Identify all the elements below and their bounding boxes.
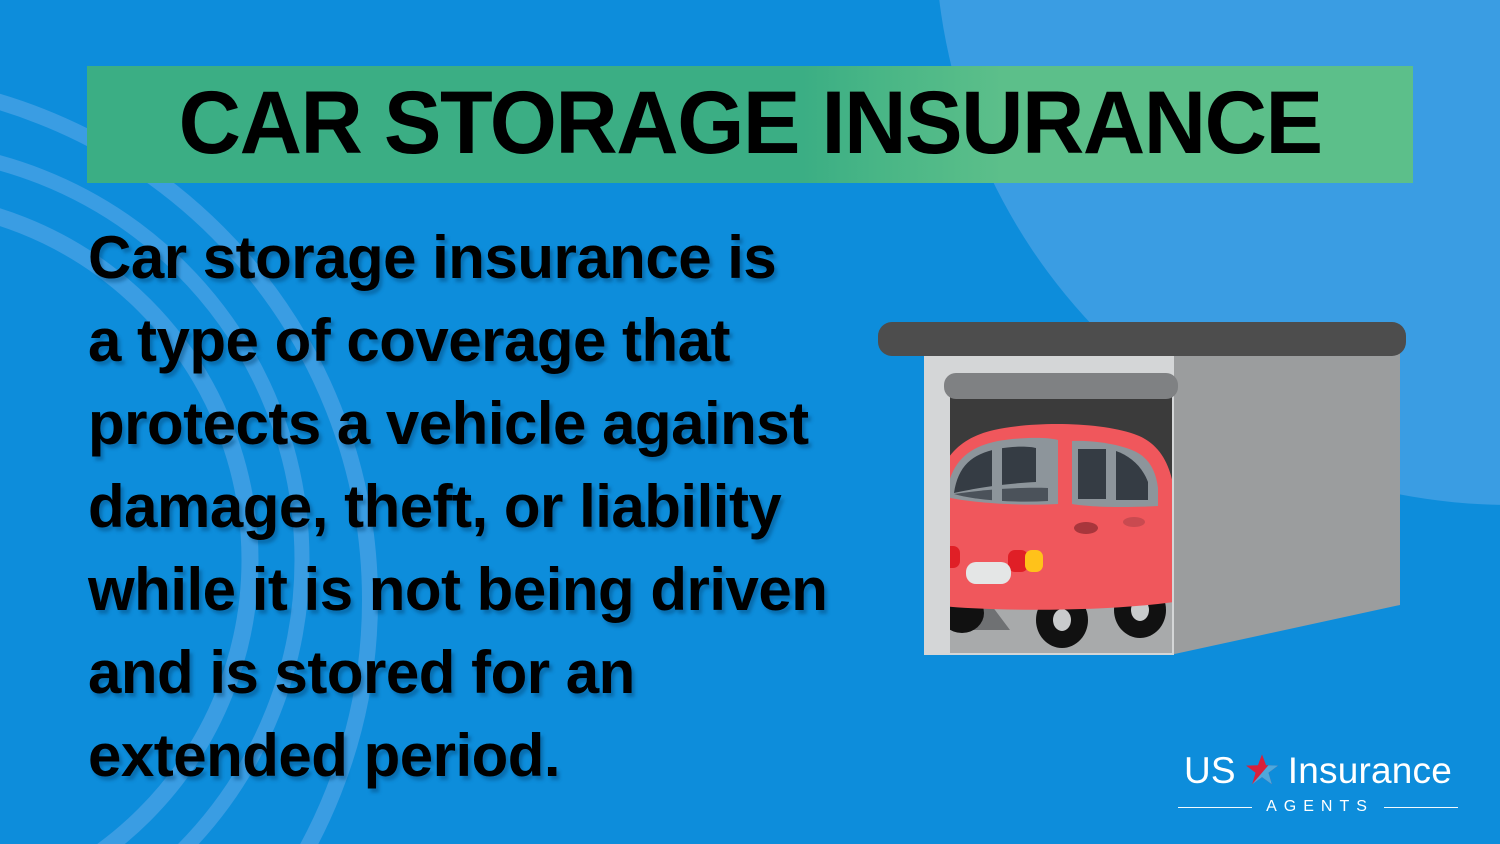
- body-line: protects a vehicle against: [88, 382, 888, 465]
- brand-logo[interactable]: US Insurance AGENTS: [1178, 749, 1458, 816]
- body-line: while it is not being driven: [88, 548, 888, 631]
- poster-canvas: CAR STORAGE INSURANCE Car storage insura…: [0, 0, 1500, 844]
- logo-subtitle-row: AGENTS: [1178, 798, 1458, 816]
- title-banner: CAR STORAGE INSURANCE: [87, 66, 1413, 183]
- car-door-handle-1: [1074, 522, 1098, 534]
- car: [915, 424, 1174, 648]
- logo-rule-right: [1384, 807, 1458, 808]
- car-side-window-glass-1: [1078, 449, 1106, 499]
- garage-scene-svg: [862, 310, 1422, 665]
- logo-rule-left: [1178, 807, 1252, 808]
- garage-door-header: [944, 373, 1178, 399]
- logo-wordmark: US Insurance: [1178, 749, 1458, 791]
- body-line: a type of coverage that: [88, 299, 888, 382]
- logo-subtitle: AGENTS: [1262, 798, 1374, 816]
- body-line: Car storage insurance is: [88, 216, 888, 299]
- car-tail-light-right: [1008, 550, 1043, 572]
- garage-side-wall: [1170, 340, 1400, 655]
- body-line: extended period.: [88, 714, 888, 797]
- car-window-pillar-rear: [992, 444, 1002, 502]
- car-license-plate: [966, 562, 1011, 584]
- star-icon: [1245, 753, 1279, 787]
- car-door-handle-2: [1123, 517, 1145, 527]
- garage-roof-slab: [878, 322, 1406, 356]
- body-line: damage, theft, or liability: [88, 465, 888, 548]
- car-in-garage-illustration: [862, 310, 1422, 665]
- logo-word-insurance: Insurance: [1288, 752, 1452, 789]
- body-line: and is stored for an: [88, 631, 888, 714]
- body-copy: Car storage insurance is a type of cover…: [88, 216, 888, 797]
- logo-word-us: US: [1184, 752, 1236, 789]
- page-title: CAR STORAGE INSURANCE: [179, 78, 1322, 167]
- car-wheel-rear-hub: [1053, 609, 1071, 631]
- car-window-pillar-side: [1106, 447, 1115, 501]
